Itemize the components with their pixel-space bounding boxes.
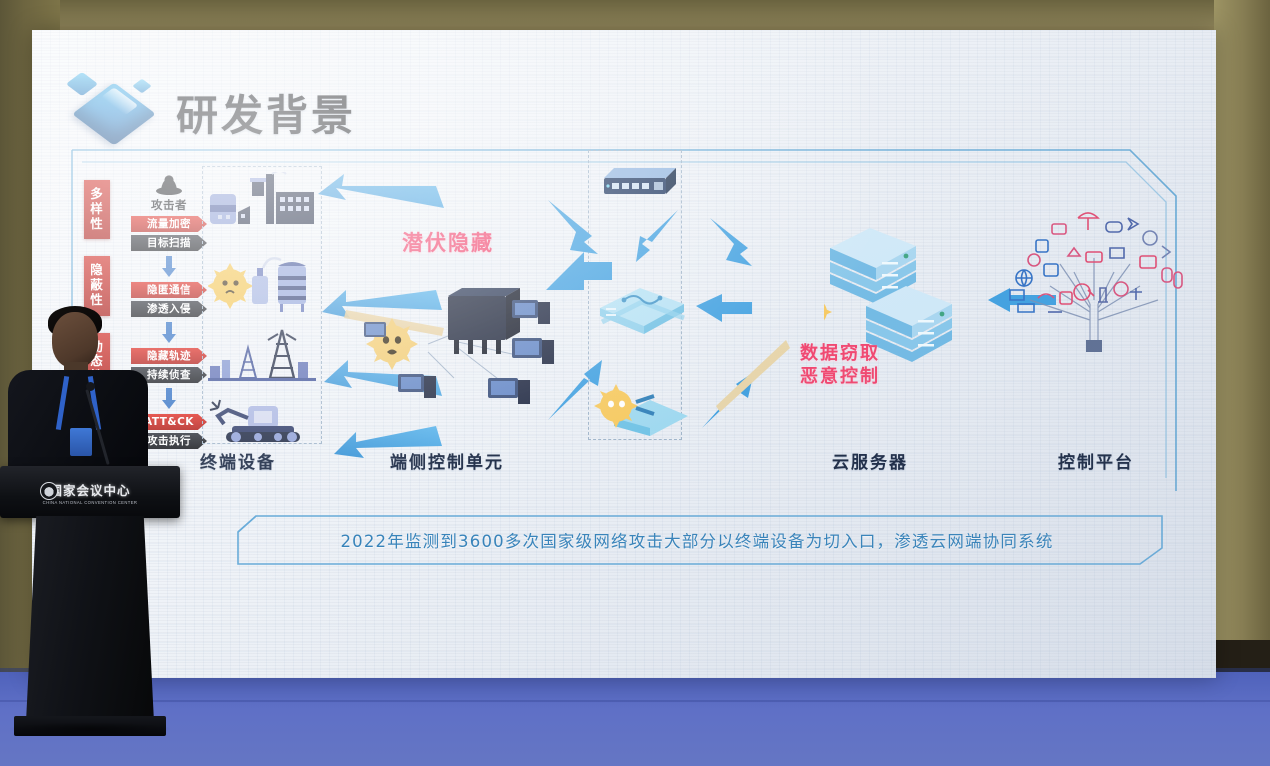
wall-top — [0, 0, 1270, 26]
blue-cube-icon — [70, 72, 166, 152]
callout-latency-hiding: 潜伏隐藏 — [402, 230, 494, 257]
column-label-terminal: 终端设备 — [200, 448, 276, 473]
slide-title-row: 研发背景 — [70, 72, 356, 152]
banner-text: 2022年监测到3600多次国家级网络攻击大部分以终端设备为切入口，渗透云网端协… — [340, 528, 1053, 552]
power-grid-icon — [208, 326, 316, 382]
podium-shadow — [10, 722, 170, 736]
presentation-slide: 研发背景 多样性 隐蔽性 动态性 — [32, 30, 1216, 678]
network-cloud-arrows — [686, 190, 846, 460]
attacker-label: 攻击者 — [127, 197, 211, 213]
wall-right — [1214, 0, 1270, 700]
excavator-icon — [208, 398, 316, 444]
iot-icon-tree-icon — [990, 212, 1200, 352]
column-label-edge-control: 端侧控制单元 — [390, 448, 504, 473]
conference-stage: 研发背景 多样性 隐蔽性 动态性 — [0, 0, 1270, 766]
speaker-and-podium: 国家会议中心 CHINA NATIONAL CONVENTION CENTER — [0, 270, 200, 766]
microphone-icon — [86, 382, 95, 391]
chain-step-red-0: 流量加密 — [131, 216, 207, 232]
spy-hat-icon — [154, 172, 184, 196]
page-title: 研发背景 — [176, 82, 356, 143]
network-switch-icon — [600, 162, 680, 202]
virus-icon — [208, 263, 253, 309]
callout-data-theft-line-1: 数据窃取 — [800, 342, 880, 365]
chain-step-dark-0: 目标扫描 — [131, 235, 207, 251]
speaker-head — [52, 312, 98, 368]
factory-icon — [208, 172, 316, 232]
venue-nameplate: 国家会议中心 CHINA NATIONAL CONVENTION CENTER — [38, 478, 142, 506]
venue-name-cn: 国家会议中心 — [49, 480, 130, 499]
chemical-plant-icon — [208, 246, 316, 312]
attacker-block: 攻击者 — [127, 172, 211, 213]
venue-logo-icon — [40, 482, 58, 500]
speaker-badge — [70, 428, 92, 456]
callout-data-theft-line-2: 恶意控制 — [800, 365, 880, 388]
virus-icon — [824, 294, 832, 330]
virus-on-network-icon — [592, 378, 692, 438]
threat-tag-diversity: 多样性 — [84, 180, 110, 239]
column-label-platform: 控制平台 — [1058, 448, 1134, 473]
network-layer-icon — [594, 280, 690, 342]
venue-name-en: CHINA NATIONAL CONVENTION CENTER — [43, 500, 138, 505]
projection-screen: 研发背景 多样性 隐蔽性 动态性 — [32, 30, 1216, 678]
podium-body — [26, 516, 154, 722]
bottom-banner: 2022年监测到3600多次国家级网络攻击大部分以终端设备为切入口，渗透云网端协… — [242, 520, 1152, 560]
column-label-cloud: 云服务器 — [832, 448, 908, 473]
callout-data-theft: 数据窃取 恶意控制 — [800, 342, 880, 388]
